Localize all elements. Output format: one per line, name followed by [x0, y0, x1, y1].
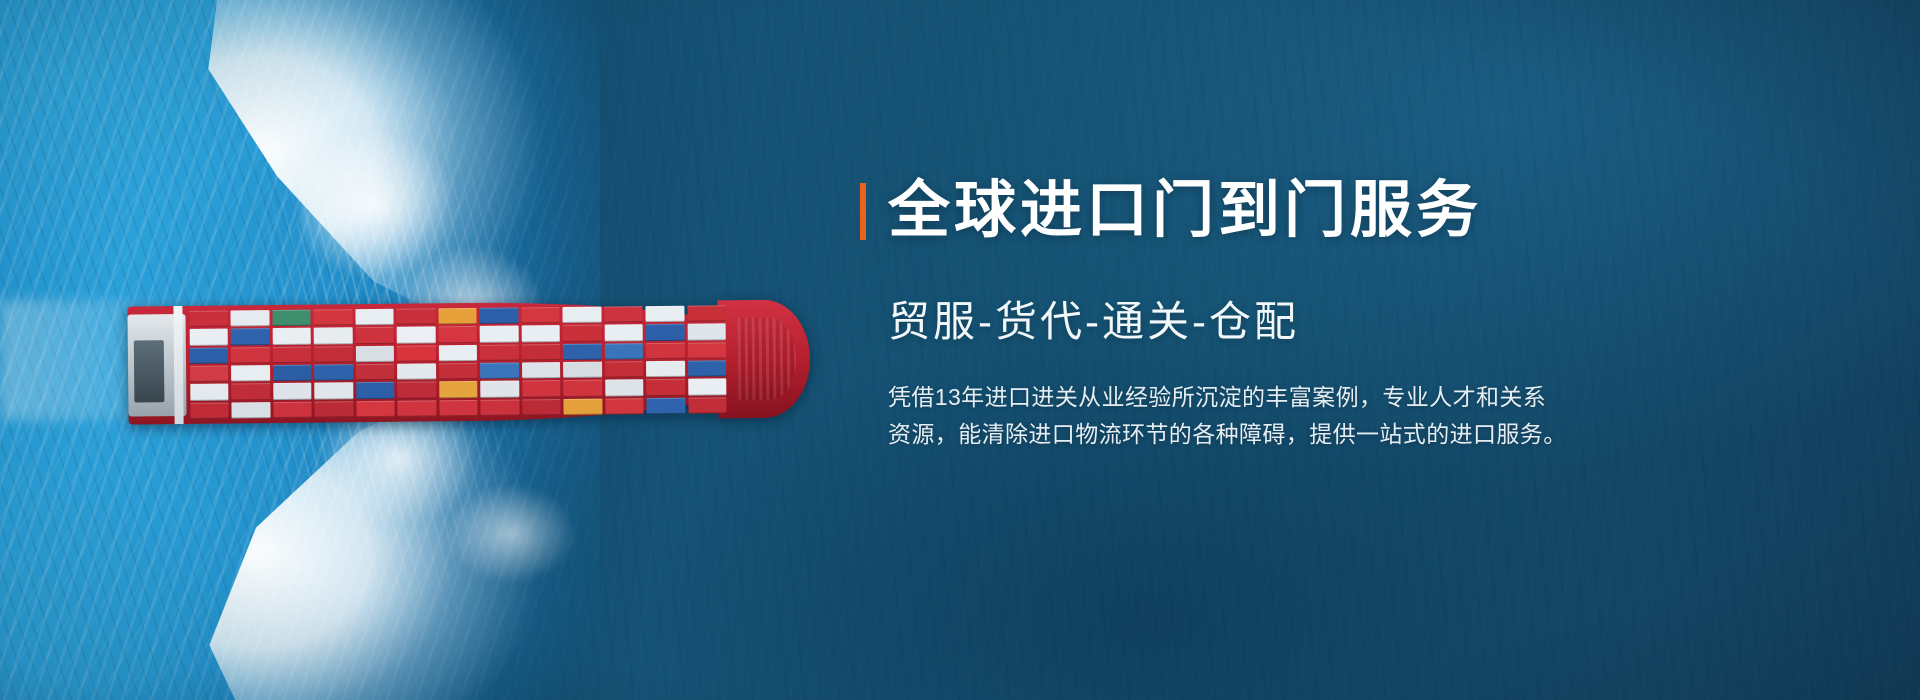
container-box — [522, 344, 561, 361]
container-box — [522, 380, 561, 397]
container-box — [189, 311, 228, 328]
container-box — [480, 307, 519, 324]
container-box — [647, 397, 686, 414]
subtitle: 贸服-货代-通关-仓配 — [888, 288, 1740, 349]
accent-bar-icon — [860, 183, 866, 240]
container-box — [190, 329, 229, 346]
container-box — [604, 306, 643, 323]
container-box — [688, 379, 727, 396]
container-box — [646, 342, 685, 359]
container-box — [190, 384, 229, 401]
container-box — [190, 347, 229, 364]
container-bay — [231, 310, 271, 418]
container-box — [398, 400, 437, 417]
container-ship-image — [127, 299, 808, 424]
container-box — [605, 379, 644, 396]
container-box — [480, 344, 519, 361]
container-box — [397, 308, 436, 325]
container-box — [563, 380, 602, 397]
container-bay — [438, 308, 478, 416]
hero-banner: 全球进口门到门服务 贸服-货代-通关-仓配 凭借13年进口进关从业经验所沉淀的丰… — [0, 0, 1920, 700]
container-box — [480, 362, 519, 379]
container-box — [563, 307, 602, 324]
container-bay — [314, 309, 354, 417]
page-title: 全球进口门到门服务 — [888, 180, 1482, 242]
container-box — [273, 365, 312, 382]
container-box — [646, 306, 685, 323]
container-box — [190, 365, 229, 382]
container-box — [314, 328, 353, 345]
container-box — [231, 310, 270, 327]
container-bay — [563, 307, 603, 415]
bow-deck-detail — [738, 318, 797, 401]
container-box — [563, 362, 602, 379]
container-box — [646, 324, 685, 341]
container-box — [563, 343, 602, 360]
container-bay — [521, 307, 561, 415]
container-box — [605, 398, 644, 415]
container-box — [397, 327, 436, 344]
container-box — [480, 381, 519, 398]
container-box — [273, 346, 312, 363]
container-box — [398, 382, 437, 399]
container-box — [273, 383, 312, 400]
container-box — [438, 326, 477, 343]
container-box — [646, 379, 685, 396]
container-box — [439, 400, 478, 417]
headline-row: 全球进口门到门服务 — [860, 180, 1740, 242]
container-box — [232, 402, 271, 419]
container-box — [272, 310, 311, 327]
container-bay — [189, 311, 229, 419]
description-text: 凭借13年进口进关从业经验所沉淀的丰富案例，专业人才和关系 资源，能清除进口物流… — [888, 379, 1756, 454]
container-box — [439, 363, 478, 380]
container-box — [604, 343, 643, 360]
container-bay — [355, 309, 395, 417]
container-box — [521, 325, 560, 342]
container-box — [439, 345, 478, 362]
container-box — [273, 401, 312, 418]
container-box — [232, 383, 271, 400]
container-box — [356, 382, 395, 399]
container-box — [521, 307, 560, 324]
container-box — [439, 381, 478, 398]
container-box — [314, 364, 353, 381]
container-bay — [687, 305, 727, 413]
container-box — [480, 326, 519, 343]
container-box — [231, 328, 270, 345]
container-box — [564, 398, 603, 415]
container-stacks — [189, 305, 726, 419]
container-box — [646, 361, 685, 378]
container-box — [356, 327, 395, 344]
container-box — [231, 365, 270, 382]
container-box — [314, 346, 353, 363]
container-bay — [397, 308, 437, 416]
container-box — [273, 328, 312, 345]
container-box — [563, 325, 602, 342]
description-line-2: 资源，能清除进口物流环节的各种障碍，提供一站式的进口服务。 — [888, 416, 1756, 453]
container-box — [605, 361, 644, 378]
container-box — [231, 347, 270, 364]
hero-text-block: 全球进口门到门服务 贸服-货代-通关-仓配 凭借13年进口进关从业经验所沉淀的丰… — [860, 180, 1740, 454]
description-line-1: 凭借13年进口进关从业经验所沉淀的丰富案例，专业人才和关系 — [888, 379, 1756, 416]
container-box — [687, 305, 726, 322]
container-box — [356, 345, 395, 362]
container-bay — [480, 307, 520, 415]
container-box — [522, 362, 561, 379]
container-box — [688, 360, 727, 377]
container-box — [688, 397, 727, 414]
container-box — [481, 399, 520, 416]
container-box — [687, 324, 726, 341]
container-box — [397, 345, 436, 362]
container-box — [315, 401, 354, 418]
container-box — [356, 400, 395, 417]
container-box — [522, 399, 561, 416]
container-box — [604, 324, 643, 341]
container-bay — [272, 310, 312, 418]
container-box — [397, 363, 436, 380]
container-box — [438, 308, 477, 325]
container-box — [190, 402, 229, 419]
container-box — [314, 309, 353, 326]
container-box — [315, 383, 354, 400]
container-box — [687, 342, 726, 359]
container-bay — [604, 306, 644, 414]
ship-mast — [173, 306, 183, 424]
ship-bow — [717, 299, 810, 418]
container-box — [355, 309, 394, 326]
container-bay — [646, 306, 686, 414]
container-box — [356, 364, 395, 381]
bridge-block — [134, 340, 165, 402]
